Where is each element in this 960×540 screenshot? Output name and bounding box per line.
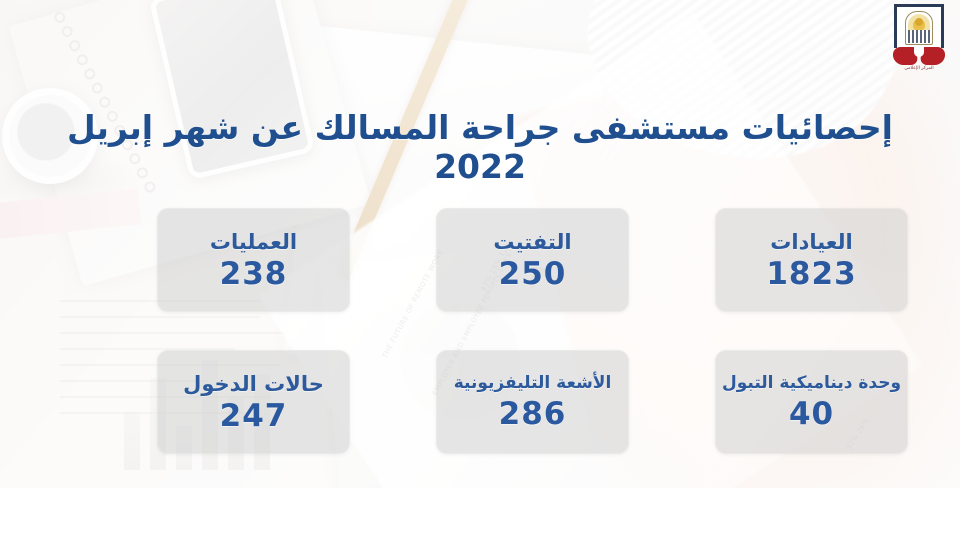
stat-card-lithotripsy[interactable]: التفتيت 250	[436, 208, 629, 312]
stat-label-clinics: العيادات	[770, 230, 852, 254]
stat-label-lithotripsy: التفتيت	[493, 230, 571, 254]
stat-value-lithotripsy: 250	[499, 258, 567, 291]
stat-card-ultrasound-imaging[interactable]: الأشعة التليفزيونية 286	[436, 350, 629, 454]
photo-pink-note	[0, 188, 141, 239]
logo-hands-icon	[892, 47, 946, 65]
stat-label-admissions: حالات الدخول	[183, 372, 324, 396]
stat-label-ultrasound-imaging: الأشعة التليفزيونية	[454, 374, 612, 394]
logo-crest-script-icon	[908, 30, 932, 43]
logo-hands-gap	[914, 45, 924, 57]
stat-label-urodynamics-unit: وحدة ديناميكية التبول	[722, 374, 901, 394]
bottom-white-band	[0, 488, 960, 540]
stat-value-operations: 238	[220, 258, 288, 291]
page-title: إحصائيات مستشفى جراحة المسالك عن شهر إبر…	[0, 108, 960, 186]
stat-card-operations[interactable]: العمليات 238	[157, 208, 350, 312]
logo-caption: المركز الإعلامي	[892, 66, 946, 71]
statistics-poster: THE FUTURE OF REMOTE WORK EMPLOYER AND E…	[0, 0, 960, 540]
stat-card-clinics[interactable]: العيادات 1823	[715, 208, 908, 312]
stats-grid: العيادات 1823 التفتيت 250 العمليات 238 و…	[148, 208, 908, 454]
logo-crest-sun-icon	[915, 18, 923, 26]
logo-frame-icon	[894, 4, 944, 48]
stat-value-ultrasound-imaging: 286	[499, 398, 567, 431]
stat-value-admissions: 247	[220, 400, 288, 433]
stat-value-urodynamics-unit: 40	[789, 398, 834, 431]
stat-card-admissions[interactable]: حالات الدخول 247	[157, 350, 350, 454]
stat-value-clinics: 1823	[766, 258, 856, 291]
stat-card-urodynamics-unit[interactable]: وحدة ديناميكية التبول 40	[715, 350, 908, 454]
stat-label-operations: العمليات	[210, 230, 297, 254]
hospital-logo: المركز الإعلامي	[892, 4, 946, 62]
logo-crest-icon	[905, 11, 933, 45]
